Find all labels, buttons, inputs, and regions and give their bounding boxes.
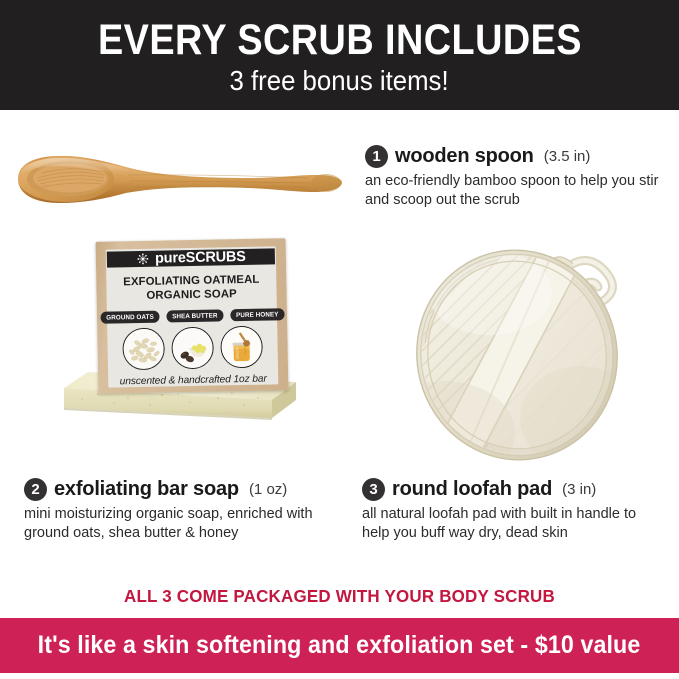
item-2-text-block: 2 exfoliating bar soap (1 oz) mini moist… — [24, 478, 324, 543]
value-banner-text: It's like a skin softening and exfoliati… — [38, 631, 641, 660]
item-3-description: all natural loofah pad with built in han… — [362, 505, 662, 543]
item-1-description: an eco-friendly bamboo spoon to help you… — [365, 172, 665, 210]
item-2-size: (1 oz) — [249, 481, 287, 498]
bamboo-spoon-icon — [8, 148, 348, 210]
loofah-pad-image — [405, 233, 640, 465]
soap-brand-bar: pureSCRUBS — [107, 248, 275, 267]
item-3-size: (3 in) — [562, 481, 596, 498]
soap-brand-name: pureSCRUBS — [155, 249, 246, 267]
item-3-heading: 3 round loofah pad (3 in) — [362, 478, 662, 501]
item-3-text-block: 3 round loofah pad (3 in) all natural lo… — [362, 478, 662, 543]
ingredient-pill-shea: SHEA BUTTER — [166, 309, 223, 322]
header-title: EVERY SCRUB INCLUDES — [97, 17, 581, 63]
item-1-size: (3.5 in) — [544, 148, 591, 165]
ingredient-photo-row — [107, 325, 278, 370]
loofah-pad-icon — [405, 233, 640, 465]
item-2-heading: 2 exfoliating bar soap (1 oz) — [24, 478, 324, 501]
ingredient-pill-oats: GROUND OATS — [100, 311, 159, 324]
soap-label-panel: pureSCRUBS EXFOLIATING OATMEAL ORGANIC S… — [106, 246, 279, 387]
shea-butter-photo — [171, 327, 214, 370]
item-1-heading: 1 wooden spoon (3.5 in) — [365, 145, 665, 168]
item-1-title: wooden spoon — [395, 145, 534, 168]
bamboo-spoon-image — [8, 148, 348, 210]
item-3-title: round loofah pad — [392, 478, 552, 501]
header-banner: EVERY SCRUB INCLUDES 3 free bonus items! — [0, 0, 679, 110]
mandala-icon — [136, 252, 150, 266]
shea-butter-icon — [172, 328, 213, 369]
item-1-number-badge: 1 — [365, 145, 388, 168]
soap-product-name-line2: ORGANIC SOAP — [106, 287, 276, 304]
header-subtitle: 3 free bonus items! — [230, 66, 449, 96]
honey-jar-icon — [221, 327, 262, 368]
oats-icon — [123, 329, 164, 370]
value-banner: It's like a skin softening and exfoliati… — [0, 618, 679, 673]
soap-paper-wrapper: pureSCRUBS EXFOLIATING OATMEAL ORGANIC S… — [96, 238, 289, 394]
ingredient-pill-honey: PURE HONEY — [230, 308, 284, 321]
item-3-number-badge: 3 — [362, 478, 385, 501]
product-infographic: EVERY SCRUB INCLUDES 3 free bonus items! — [0, 0, 679, 679]
oats-photo — [122, 328, 165, 371]
soap-bar-image: pureSCRUBS EXFOLIATING OATMEAL ORGANIC S… — [40, 240, 315, 455]
item-1-text-block: 1 wooden spoon (3.5 in) an eco-friendly … — [365, 145, 665, 210]
honey-jar-photo — [220, 326, 263, 369]
ingredient-pill-row: GROUND OATS SHEA BUTTER PURE HONEY — [107, 308, 277, 323]
packaged-note: ALL 3 COME PACKAGED WITH YOUR BODY SCRUB — [10, 586, 669, 607]
soap-tagline: unscented & handcrafted 1oz bar — [108, 373, 278, 387]
item-2-description: mini moisturizing organic soap, enriched… — [24, 505, 324, 543]
item-2-number-badge: 2 — [24, 478, 47, 501]
item-2-title: exfoliating bar soap — [54, 478, 239, 501]
